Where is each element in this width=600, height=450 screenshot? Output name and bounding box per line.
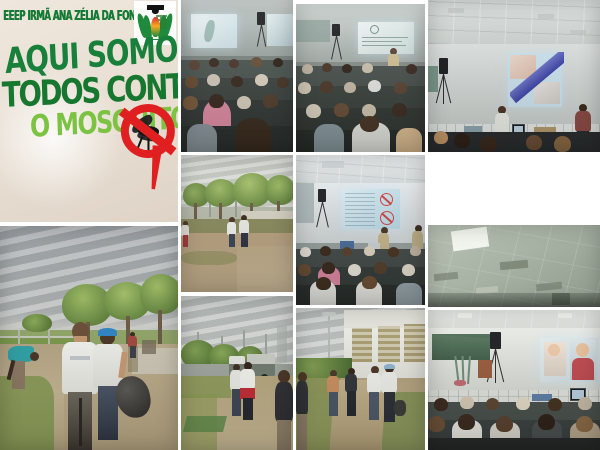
photo-presentation-two-speakers [428,0,600,152]
photo-outdoor-trees-cleanup [181,155,293,292]
poster-school-header: EEEP IRMÃ ANA ZÉLIA DA FONSECA [3,6,135,26]
photo-auditorium-dengue-slide [296,155,425,305]
photo-roadside-truck [181,296,293,450]
anti-mosquito-campaign-poster: EEEP IRMÃ ANA ZÉLIA DA FONSECA AQUI SOMO… [0,0,178,222]
photo-hall-ceiling [428,225,600,307]
photo-auditorium-projection-left [181,0,293,152]
photo-walking-past-building [296,308,425,450]
photo-collage: EEEP IRMÃ ANA ZÉLIA DA FONSECA AQUI SOMO… [0,0,600,450]
no-mosquito-icon [113,93,178,191]
photo-students-collecting-trash [0,226,178,450]
photo-auditorium-presenter [296,4,425,152]
photo-auditorium-video [428,310,600,450]
